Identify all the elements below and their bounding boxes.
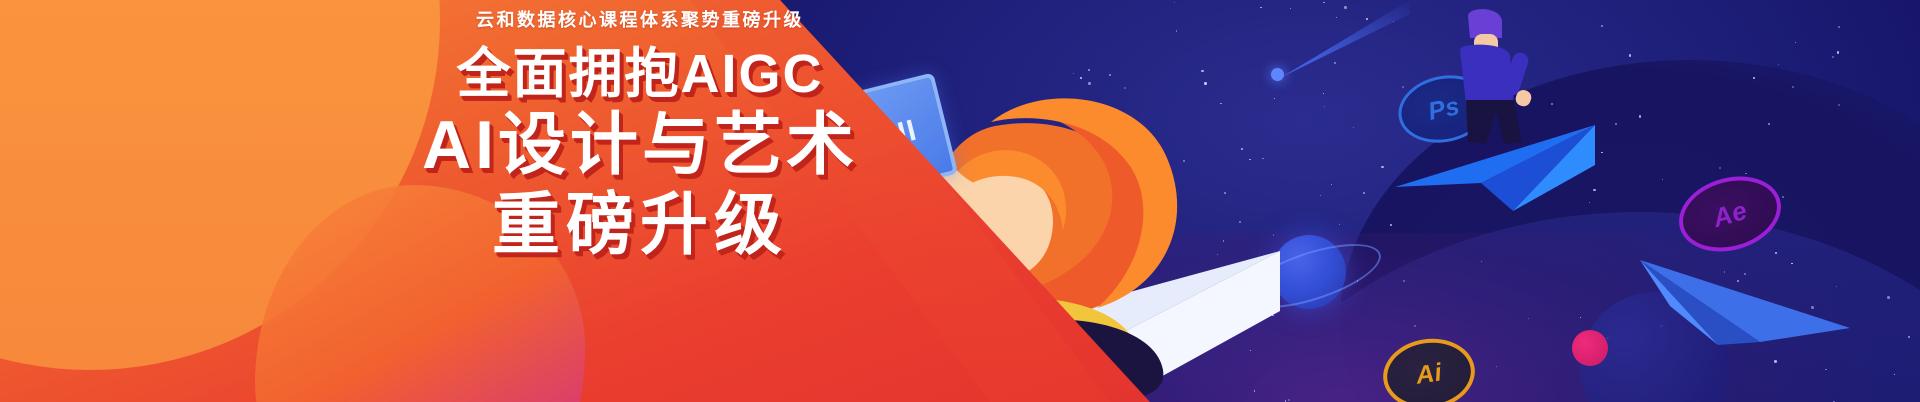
paper-plane-lower-icon — [1640, 250, 1850, 345]
star-icon — [1792, 86, 1794, 88]
star-icon — [1402, 86, 1404, 88]
star-icon — [1414, 325, 1416, 327]
comet-head-icon — [1271, 68, 1284, 81]
headline-line-3: 重磅升级 — [380, 191, 900, 259]
star-icon — [1174, 2, 1175, 3]
star-icon — [1363, 192, 1365, 194]
star-icon — [1344, 6, 1347, 9]
star-icon — [1323, 2, 1325, 4]
star-icon — [1288, 399, 1290, 401]
star-icon — [1601, 152, 1603, 154]
skater-character — [1430, 8, 1550, 148]
banner-subtitle: 云和数据核心课程体系聚势重磅升级 — [380, 8, 900, 33]
headline-line-2: AI设计与艺术 — [380, 111, 900, 179]
star-icon — [1366, 18, 1368, 20]
headline-line-1: 全面拥抱AIGC — [380, 47, 900, 101]
star-icon — [1285, 400, 1287, 402]
star-icon — [1629, 54, 1631, 56]
star-icon — [1894, 374, 1895, 375]
promo-banner: Ps Ae Ai UI — [0, 0, 1920, 402]
star-icon — [1782, 196, 1784, 198]
headline-block: 云和数据核心课程体系聚势重磅升级 全面拥抱AIGC AI设计与艺术 重磅升级 — [380, 8, 900, 259]
star-icon — [1753, 77, 1755, 79]
star-icon — [1795, 42, 1796, 43]
star-icon — [1662, 179, 1663, 180]
star-icon — [1838, 26, 1840, 28]
star-icon — [1887, 296, 1889, 298]
badge-ae-label: Ae — [1709, 194, 1750, 233]
planet-pink-icon — [1572, 330, 1608, 366]
star-icon — [1320, 195, 1321, 196]
star-icon — [1496, 366, 1497, 367]
badge-ai-label: Ai — [1414, 358, 1444, 390]
star-icon — [1774, 360, 1776, 362]
star-icon — [1837, 51, 1839, 53]
star-icon — [1832, 56, 1834, 58]
star-icon — [1336, 17, 1337, 18]
